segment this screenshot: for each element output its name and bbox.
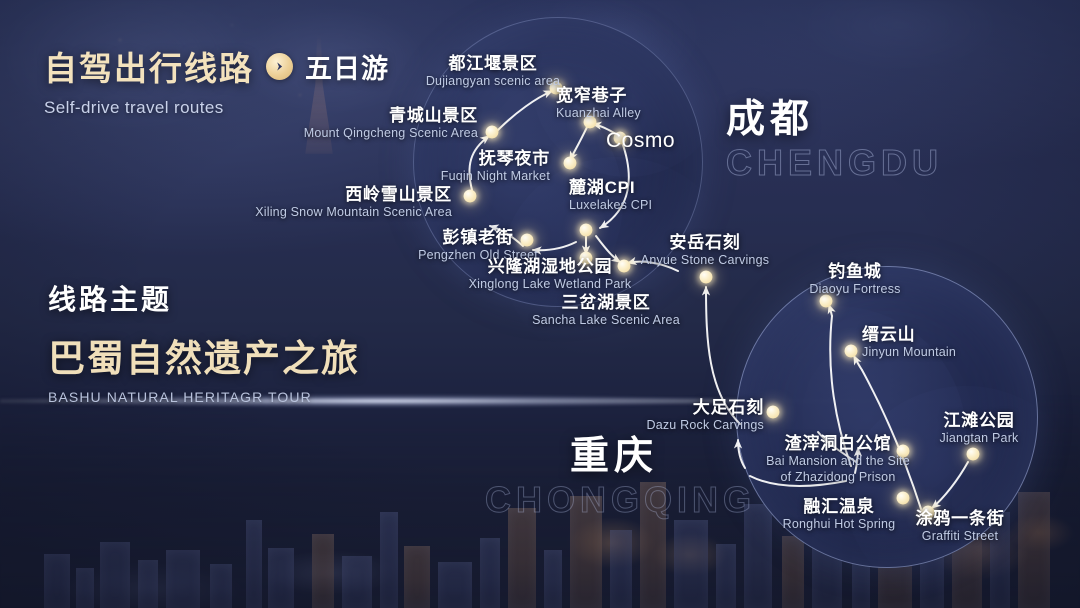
node-dazu[interactable] bbox=[767, 406, 780, 419]
poi-xiling[interactable]: 西岭雪山景区 Xiling Snow Mountain Scenic Area bbox=[232, 185, 452, 220]
node-jinyun[interactable] bbox=[845, 345, 858, 358]
node-xiling[interactable] bbox=[464, 190, 477, 203]
poi-name-cn: 宽窄巷子 bbox=[556, 86, 641, 105]
node-fuqin[interactable] bbox=[564, 157, 577, 170]
poi-luxelakes[interactable]: 麓湖CPI Luxelakes CPI bbox=[569, 178, 652, 213]
poi-name-cn: 抚琴夜市 bbox=[400, 149, 550, 168]
poi-name-cn: 缙云山 bbox=[862, 325, 956, 344]
header-title-row: 自驾出行线路 五日游 bbox=[44, 42, 389, 90]
poi-jiangtan[interactable]: 江滩公园 Jiangtan Park bbox=[914, 411, 1044, 446]
theme-label: 线路主题 bbox=[48, 278, 360, 318]
poi-graffiti[interactable]: 涂鸦一条街 Graffiti Street bbox=[880, 509, 1040, 544]
city-label-chengdu: 成都 CHENGDU bbox=[726, 100, 943, 181]
poi-sancha[interactable]: 三岔湖景区 Sancha Lake Scenic Area bbox=[502, 293, 710, 328]
route-kuanzhai-to-fuqin-area bbox=[570, 125, 588, 160]
poi-fuqin[interactable]: 抚琴夜市 Fuqin Night Market bbox=[400, 149, 550, 184]
poi-name-en: Xiling Snow Mountain Scenic Area bbox=[232, 205, 452, 220]
poi-name-en: Sancha Lake Scenic Area bbox=[502, 313, 710, 328]
route-arrive-diaoyu bbox=[829, 305, 832, 316]
page-title-cn: 自驾出行线路 bbox=[44, 42, 254, 90]
node-anyue[interactable] bbox=[700, 271, 713, 284]
theme-title-en: BASHU NATURAL HERITAGR TOUR bbox=[48, 389, 360, 405]
theme-title-cn: 巴蜀自然遗产之旅 bbox=[48, 328, 360, 382]
poi-name-cn: 麓湖CPI bbox=[569, 178, 652, 197]
node-qingcheng[interactable] bbox=[486, 126, 499, 139]
poi-qingcheng[interactable]: 青城山景区 Mount Qingcheng Scenic Area bbox=[278, 106, 478, 141]
poi-name-cn: 钓鱼城 bbox=[760, 262, 950, 281]
poi-name-cn: 西岭雪山景区 bbox=[232, 185, 452, 204]
trip-duration-label: 五日游 bbox=[305, 47, 389, 86]
theme-block: 线路主题 巴蜀自然遗产之旅 BASHU NATURAL HERITAGR TOU… bbox=[48, 278, 360, 405]
poi-name-en-line1: Bai Mansion and the Site bbox=[740, 454, 936, 469]
poi-zhazidong[interactable]: 渣滓洞白公馆 Bai Mansion and the Site of Zhazi… bbox=[740, 434, 936, 485]
poi-dazu[interactable]: 大足石刻 Dazu Rock Carvings bbox=[594, 398, 764, 433]
poi-name-en: Jinyun Mountain bbox=[862, 345, 956, 360]
poi-name-cn: 渣滓洞白公馆 bbox=[740, 434, 936, 453]
poi-name-en: Graffiti Street bbox=[880, 529, 1040, 544]
poi-diaoyu[interactable]: 钓鱼城 Diaoyu Fortress bbox=[760, 262, 950, 297]
city-name-en: CHENGDU bbox=[726, 145, 943, 181]
city-name-cn: 重庆 bbox=[570, 437, 756, 476]
poi-name-en: Kuanzhai Alley bbox=[556, 106, 641, 121]
infographic-canvas: 自驾出行线路 五日游 Self-drive travel routes 线路主题… bbox=[0, 0, 1080, 608]
poi-name-cn: 安岳石刻 bbox=[612, 233, 798, 252]
poi-name-en: Fuqin Night Market bbox=[400, 169, 550, 184]
poi-name-en: Luxelakes CPI bbox=[569, 198, 652, 213]
poi-name-cn: 三岔湖景区 bbox=[502, 293, 710, 312]
poi-name-cn: 大足石刻 bbox=[594, 398, 764, 417]
poi-name-en: Diaoyu Fortress bbox=[760, 282, 950, 297]
route-arrive-jinyun bbox=[854, 356, 862, 370]
route-qingcheng-to-dujiangyan bbox=[497, 91, 552, 131]
poi-name-en: Jiangtan Park bbox=[914, 431, 1044, 446]
poi-name-en: Dazu Rock Carvings bbox=[594, 418, 764, 433]
city-name-en: CHONGQING bbox=[485, 482, 756, 518]
route-jiangtan-to-graffiti bbox=[932, 462, 968, 508]
poi-name-cn: 青城山景区 bbox=[278, 106, 478, 125]
poi-jinyun[interactable]: 缙云山 Jinyun Mountain bbox=[862, 325, 956, 360]
poi-name-en: Xinglong Lake Wetland Park bbox=[440, 277, 660, 292]
poi-name-cn: 涂鸦一条街 bbox=[880, 509, 1040, 528]
city-name-cn: 成都 bbox=[726, 100, 943, 139]
node-jiangtan[interactable] bbox=[967, 448, 980, 461]
city-label-chongqing: 重庆 CHONGQING bbox=[570, 437, 756, 518]
chevron-right-icon[interactable] bbox=[266, 53, 293, 80]
poi-name-en: Mount Qingcheng Scenic Area bbox=[278, 126, 478, 141]
poi-name-cn: Cosmo bbox=[606, 129, 675, 153]
poi-kuanzhai[interactable]: 宽窄巷子 Kuanzhai Alley bbox=[556, 86, 641, 121]
poi-name-cn: 都江堰景区 bbox=[398, 54, 588, 73]
poi-name-cn: 彭镇老街 bbox=[390, 228, 566, 247]
poi-name-cn: 江滩公园 bbox=[914, 411, 1044, 430]
poi-dujiangyan[interactable]: 都江堰景区 Dujiangyan scenic area bbox=[398, 54, 588, 89]
node-luxelakes-south[interactable] bbox=[580, 224, 593, 237]
poi-cosmo[interactable]: Cosmo bbox=[606, 129, 675, 153]
poi-name-en-line2: of Zhazidong Prison bbox=[740, 470, 936, 485]
